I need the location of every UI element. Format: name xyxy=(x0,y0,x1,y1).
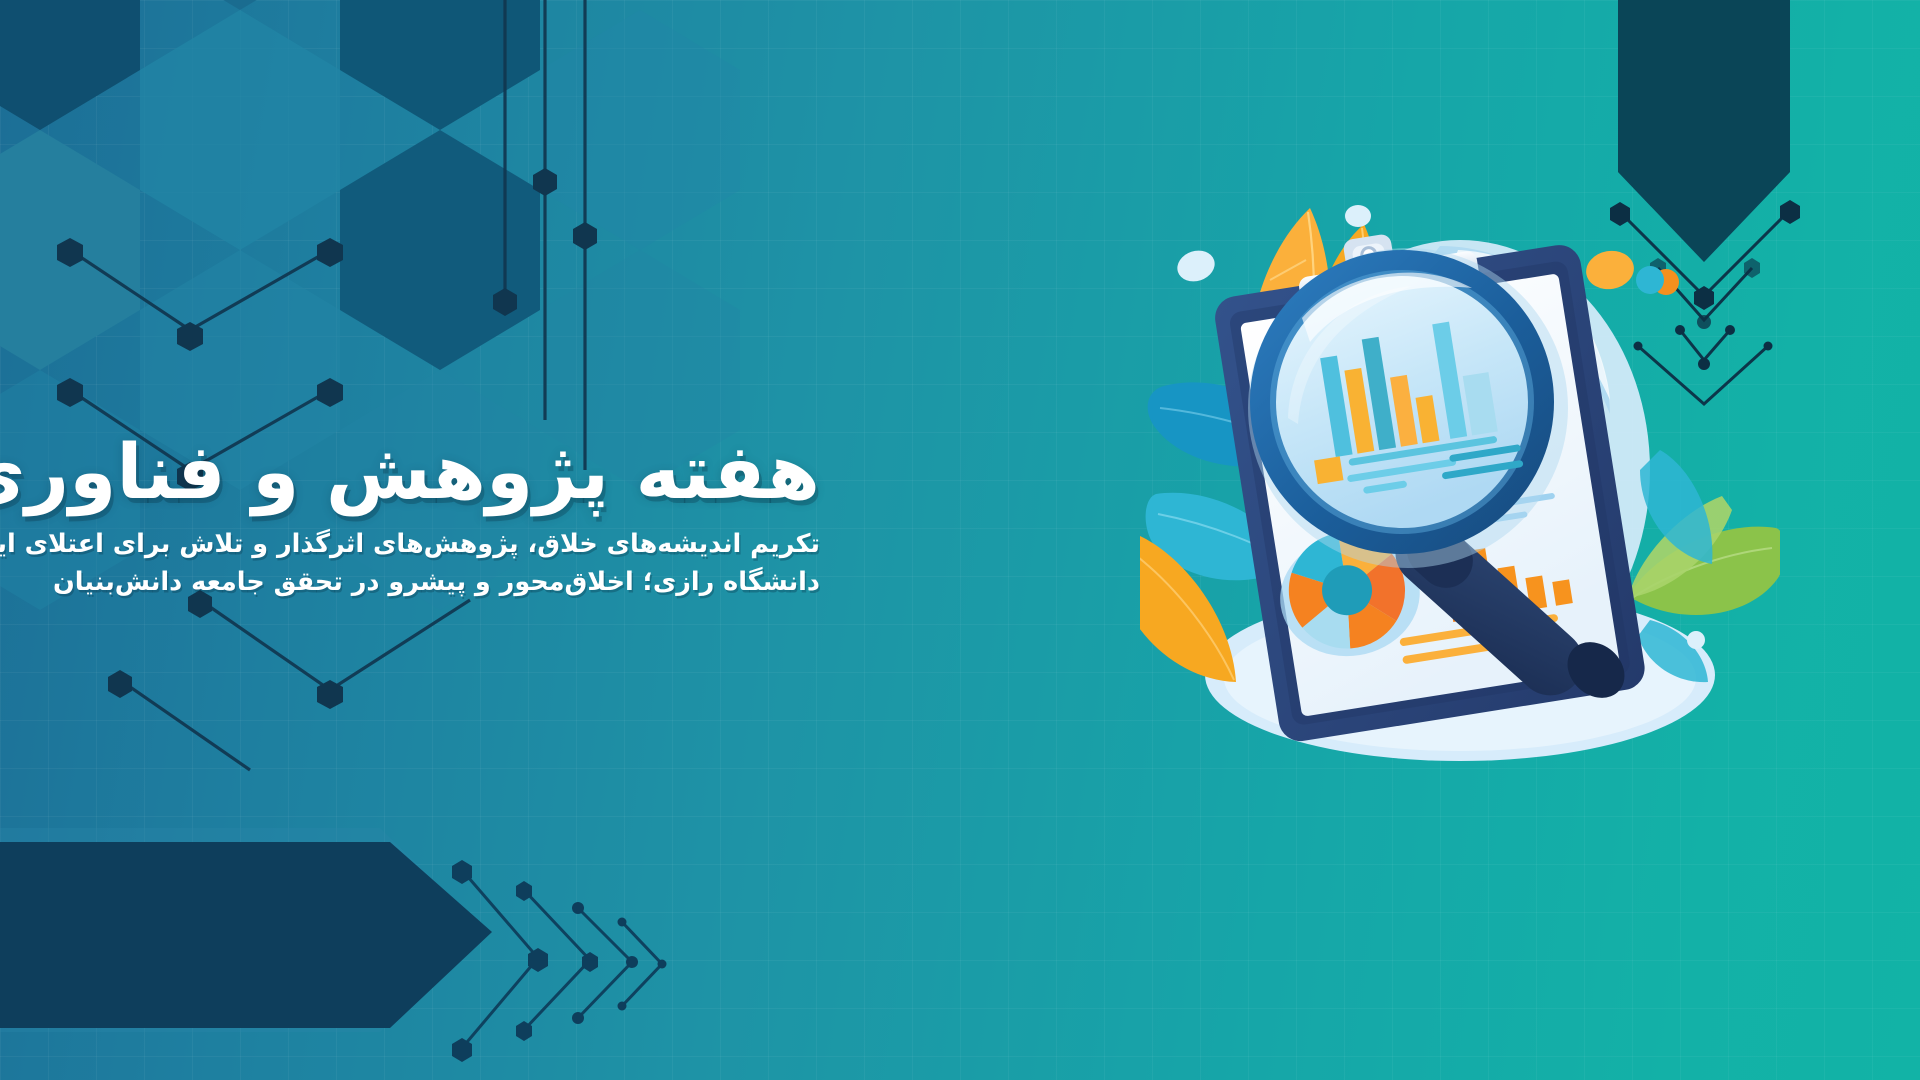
chevron-arrow xyxy=(0,780,720,1080)
subtitle-line-1: تکریم اندیشه‌های خلاق، پژوهش‌های اثرگذار… xyxy=(120,525,820,563)
subtitle-line-2: دانشگاه رازی؛ اخلاق‌محور و پیشرو در تحقق… xyxy=(120,563,820,601)
subtitle-group: تکریم اندیشه‌های خلاق، پژوهش‌های اثرگذار… xyxy=(120,525,820,602)
banner-text-block: هفته پژوهش و فناوری تکریم اندیشه‌های خلا… xyxy=(120,432,820,602)
page-title: هفته پژوهش و فناوری xyxy=(120,432,820,511)
research-week-banner: هفته پژوهش و فناوری تکریم اندیشه‌های خلا… xyxy=(0,0,1920,1080)
research-analytics-illustration xyxy=(1140,150,1780,800)
